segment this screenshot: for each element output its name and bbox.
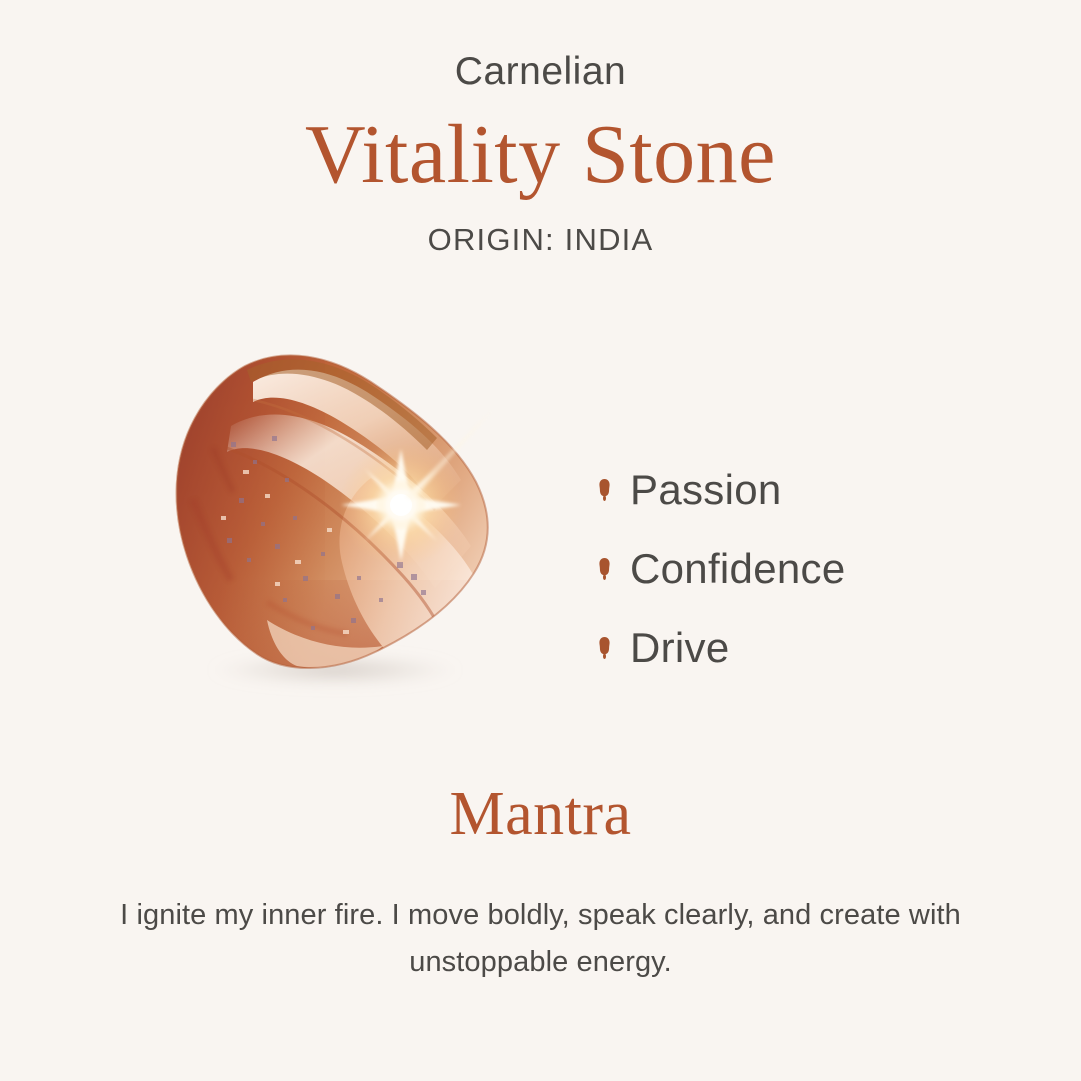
gem-bullet-icon xyxy=(596,557,613,581)
gem-bullet-icon xyxy=(596,478,613,502)
stone-body xyxy=(135,330,535,720)
attribute-label: Drive xyxy=(630,627,730,669)
attribute-item-confidence: Confidence xyxy=(596,529,1016,608)
attribute-item-drive: Drive xyxy=(596,608,1016,687)
attribute-label: Passion xyxy=(630,469,782,511)
page-title: Vitality Stone xyxy=(0,105,1081,204)
attribute-label: Confidence xyxy=(630,548,845,590)
mantra-section: Mantra I ignite my inner fire. I move bo… xyxy=(0,780,1081,986)
card-header: Carnelian Vitality Stone ORIGIN: INDIA xyxy=(0,52,1081,258)
origin-label: ORIGIN: INDIA xyxy=(0,222,1081,258)
stone-name-eyebrow: Carnelian xyxy=(0,52,1081,93)
mantra-text: I ignite my inner fire. I move boldly, s… xyxy=(106,892,976,986)
attribute-list: Passion Confidence Drive xyxy=(596,450,1016,687)
crystal-info-card: Carnelian Vitality Stone ORIGIN: INDIA xyxy=(0,0,1081,1081)
attribute-item-passion: Passion xyxy=(596,450,1016,529)
middle-section: Passion Confidence Drive xyxy=(0,330,1081,720)
carnelian-stone-graphic xyxy=(135,330,535,720)
mantra-heading: Mantra xyxy=(0,780,1081,848)
stone-illustration xyxy=(135,330,535,720)
gem-bullet-icon xyxy=(596,636,613,660)
